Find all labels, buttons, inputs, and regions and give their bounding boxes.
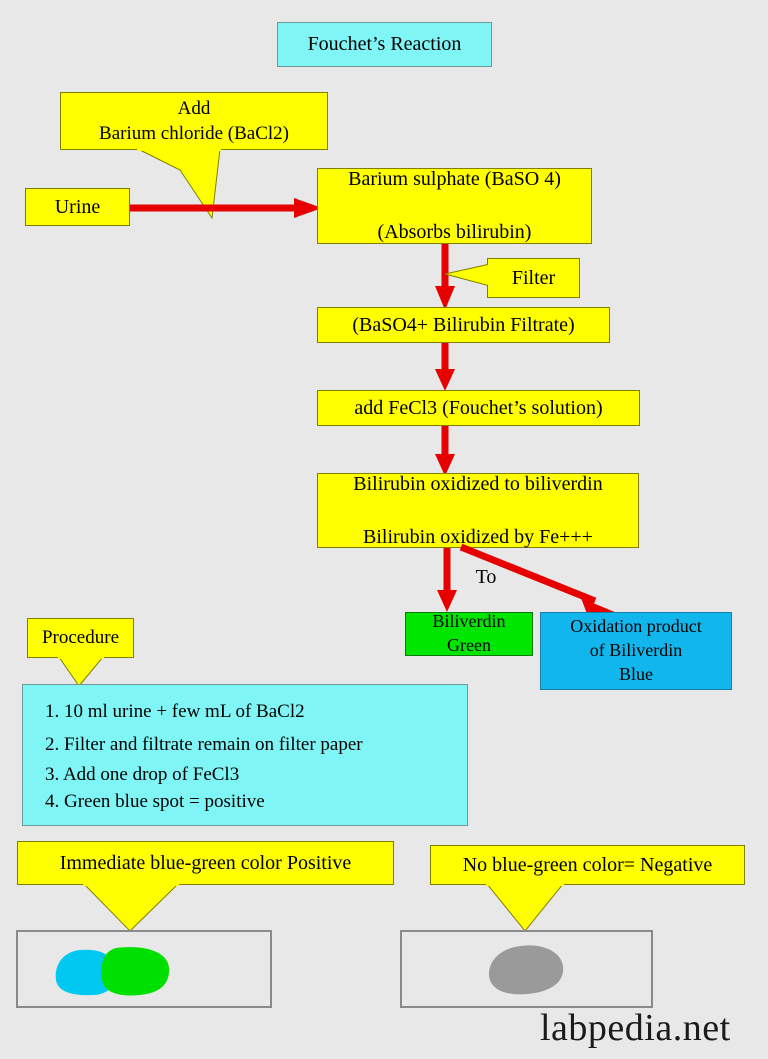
procedure-step-1: 1. 10 ml urine + few mL of BaCl2	[45, 699, 305, 724]
diagram-title-text: Fouchet’s Reaction	[308, 31, 462, 57]
add-barium-chloride-callout: Add Barium chloride (BaCl2)	[60, 92, 328, 150]
watermark-labpedia: labpedia.net	[540, 1006, 731, 1050]
procedure-steps-box: 1. 10 ml urine + few mL of BaCl2 2. Filt…	[22, 684, 468, 826]
add-barium-chloride-text: Add Barium chloride (BaCl2)	[99, 96, 289, 146]
oxidation-box: Bilirubin oxidized to biliverdin Bilirub…	[317, 473, 639, 548]
arrow-oxidation-to-biliverdin	[432, 548, 462, 614]
watermark-text: labpedia.net	[540, 1007, 731, 1049]
procedure-label-text: Procedure	[42, 625, 119, 650]
add-fecl3-box: add FeCl3 (Fouchet’s solution)	[317, 390, 640, 426]
procedure-step-4: 4. Green blue spot = positive	[45, 789, 265, 814]
urine-text: Urine	[55, 194, 101, 220]
negative-result-callout-tail	[483, 883, 573, 933]
oxidation-product-blue-box: Oxidation product of Biliverdin Blue	[540, 612, 732, 690]
urine-box: Urine	[25, 188, 130, 226]
arrow-filtrate-to-fecl3	[430, 343, 460, 393]
filter-callout: Filter	[487, 258, 580, 298]
procedure-step-2: 2. Filter and filtrate remain on filter …	[45, 732, 363, 757]
oxidation-text: Bilirubin oxidized to biliverdin Bilirub…	[353, 471, 602, 550]
filter-text: Filter	[512, 265, 555, 291]
diagram-title-box: Fouchet’s Reaction	[277, 22, 492, 67]
biliverdin-green-box: Biliverdin Green	[405, 612, 533, 656]
to-label: To	[462, 563, 510, 591]
positive-result-callout: Immediate blue-green color Positive	[17, 841, 394, 885]
filter-callout-tail	[444, 262, 492, 290]
add-barium-chloride-callout-tail	[130, 148, 240, 220]
barium-sulphate-box: Barium sulphate (BaSO 4) (Absorbs biliru…	[317, 168, 592, 244]
barium-sulphate-text: Barium sulphate (BaSO 4) (Absorbs biliru…	[348, 166, 561, 245]
arrow-barium-sulphate-to-filtrate	[430, 244, 460, 312]
negative-result-text: No blue-green color= Negative	[463, 852, 713, 878]
positive-spot-graphic	[50, 940, 190, 1000]
add-fecl3-text: add FeCl3 (Fouchet’s solution)	[354, 395, 602, 421]
positive-result-text: Immediate blue-green color Positive	[60, 850, 352, 876]
arrow-urine-to-barium-sulphate	[128, 196, 324, 220]
negative-spot-graphic	[485, 940, 575, 1000]
procedure-step-3: 3. Add one drop of FeCl3	[45, 762, 239, 787]
procedure-callout: Procedure	[27, 618, 134, 658]
to-label-text: To	[476, 564, 497, 590]
filtrate-box: (BaSO4+ Bilirubin Filtrate)	[317, 307, 610, 343]
negative-result-callout: No blue-green color= Negative	[430, 845, 745, 885]
diagram-canvas: Fouchet’s Reaction Add Barium chloride (…	[0, 0, 768, 1059]
filtrate-text: (BaSO4+ Bilirubin Filtrate)	[352, 312, 574, 338]
oxidation-product-blue-text: Oxidation product of Biliverdin Blue	[570, 615, 701, 686]
biliverdin-green-text: Biliverdin Green	[433, 610, 506, 658]
positive-result-callout-tail	[80, 883, 190, 933]
